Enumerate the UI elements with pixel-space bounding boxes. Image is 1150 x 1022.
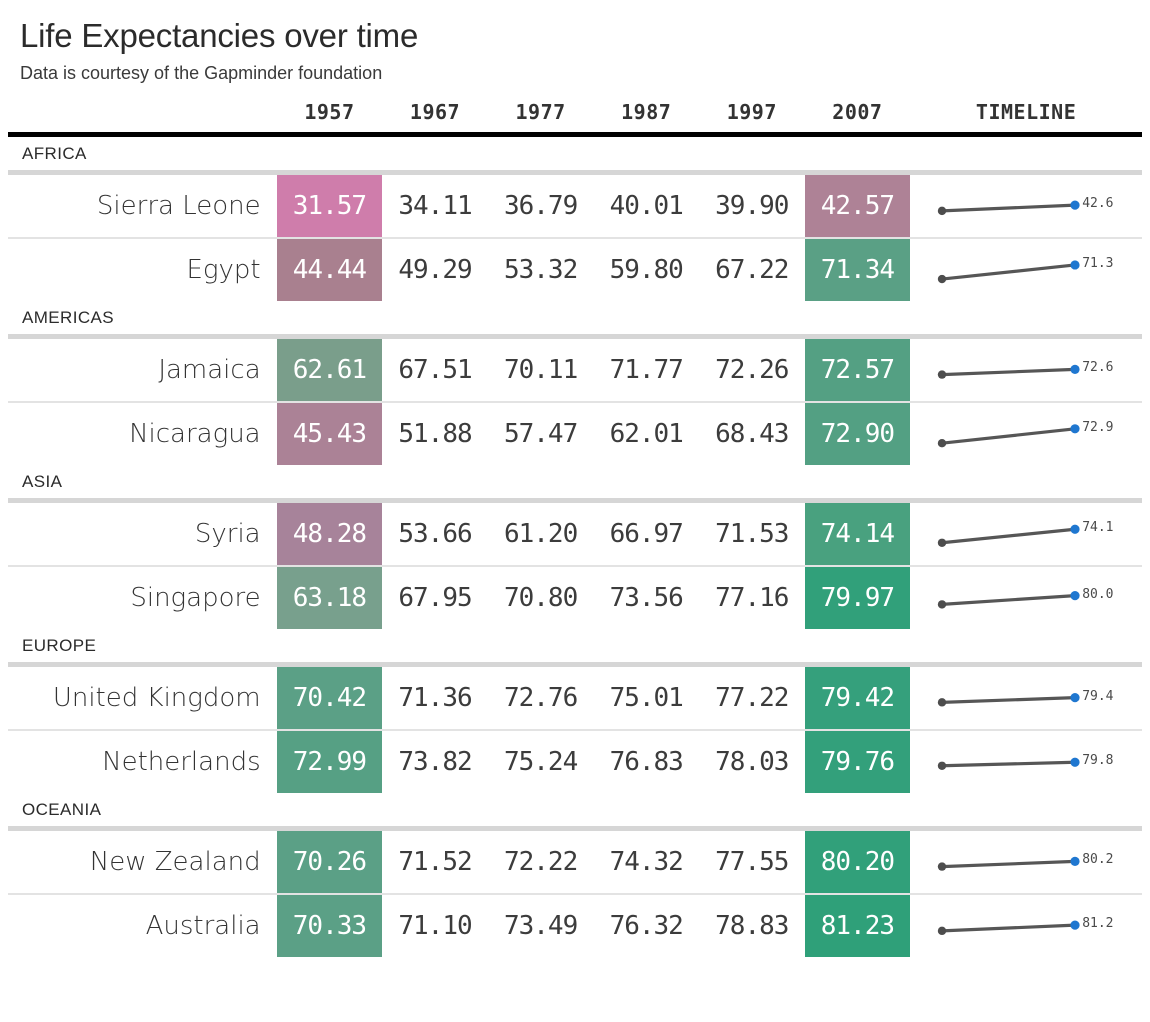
- sparkline-path: [942, 762, 1075, 766]
- sparkline-path: [942, 529, 1075, 543]
- group-label: EUROPE: [8, 629, 1142, 662]
- value-cell-2007: 79.42: [805, 667, 911, 730]
- group-header-row: OCEANIA: [8, 793, 1142, 826]
- group-header-row: AMERICAS: [8, 301, 1142, 334]
- sparkline: 72.6: [920, 340, 1136, 400]
- sparkline-end-dot: [1071, 693, 1080, 702]
- value-cell-1977: 36.79: [488, 175, 594, 238]
- value-cell-1967: 73.82: [382, 730, 488, 793]
- group-header-row: EUROPE: [8, 629, 1142, 662]
- timeline-cell: 81.2: [910, 894, 1142, 957]
- sparkline-path: [942, 698, 1075, 703]
- sparkline-path: [942, 861, 1075, 866]
- table-row[interactable]: Netherlands72.9973.8275.2476.8378.0379.7…: [8, 730, 1142, 793]
- timeline-cell: 80.0: [910, 566, 1142, 629]
- sparkline-end-dot: [1071, 424, 1080, 433]
- value-cell-1967: 34.11: [382, 175, 488, 238]
- sparkline-end-label: 81.2: [1082, 916, 1113, 931]
- value-cell-1987: 40.01: [593, 175, 699, 238]
- timeline-cell: 80.2: [910, 831, 1142, 894]
- group-label: AMERICAS: [8, 301, 1142, 334]
- value-cell-1987: 75.01: [593, 667, 699, 730]
- value-cell-1997: 67.22: [699, 238, 805, 301]
- value-cell-2007: 72.57: [805, 339, 911, 402]
- value-cell-1987: 76.83: [593, 730, 699, 793]
- sparkline: 42.6: [920, 176, 1136, 236]
- sparkline-end-label: 79.8: [1082, 753, 1113, 768]
- timeline-cell: 79.8: [910, 730, 1142, 793]
- sparkline-start-dot: [938, 439, 946, 447]
- page-title: Life Expectancies over time: [20, 16, 1130, 56]
- sparkline-path: [942, 369, 1075, 374]
- sparkline: 74.1: [920, 504, 1136, 564]
- sparkline-end-label: 74.1: [1082, 520, 1113, 535]
- sparkline: 79.8: [920, 732, 1136, 792]
- sparkline-start-dot: [938, 275, 946, 283]
- sparkline-path: [942, 205, 1075, 211]
- sparkline-start-dot: [938, 762, 946, 770]
- sparkline-end-dot: [1071, 591, 1080, 600]
- country-name: Syria: [8, 503, 277, 566]
- sparkline-end-dot: [1071, 525, 1080, 534]
- value-cell-1967: 71.36: [382, 667, 488, 730]
- value-cell-1977: 70.11: [488, 339, 594, 402]
- sparkline-end-dot: [1071, 260, 1080, 269]
- sparkline: 71.3: [920, 240, 1136, 300]
- table-row[interactable]: Jamaica62.6167.5170.1171.7772.2672.5772.…: [8, 339, 1142, 402]
- sparkline: 80.2: [920, 832, 1136, 892]
- country-name: Australia: [8, 894, 277, 957]
- sparkline-start-dot: [938, 370, 946, 378]
- value-cell-1957: 63.18: [277, 566, 383, 629]
- timeline-cell: 72.6: [910, 339, 1142, 402]
- value-cell-2007: 79.76: [805, 730, 911, 793]
- sparkline-end-dot: [1071, 365, 1080, 374]
- sparkline-start-dot: [938, 927, 946, 935]
- title-block: Life Expectancies over time Data is cour…: [8, 0, 1142, 86]
- sparkline-end-label: 80.0: [1082, 587, 1113, 602]
- table-row[interactable]: United Kingdom70.4271.3672.7675.0177.227…: [8, 667, 1142, 730]
- country-name: Nicaragua: [8, 402, 277, 465]
- sparkline-path: [942, 925, 1075, 931]
- value-cell-1977: 53.32: [488, 238, 594, 301]
- group-label: AFRICA: [8, 137, 1142, 170]
- value-cell-1987: 71.77: [593, 339, 699, 402]
- sparkline-start-dot: [938, 207, 946, 215]
- value-cell-1987: 66.97: [593, 503, 699, 566]
- sparkline-end-label: 72.9: [1082, 420, 1113, 435]
- value-cell-1987: 73.56: [593, 566, 699, 629]
- table-row[interactable]: Sierra Leone31.5734.1136.7940.0139.9042.…: [8, 175, 1142, 238]
- sparkline-start-dot: [938, 698, 946, 706]
- sparkline-end-label: 79.4: [1082, 689, 1113, 704]
- country-name: Singapore: [8, 566, 277, 629]
- value-cell-1957: 70.33: [277, 894, 383, 957]
- sparkline: 81.2: [920, 896, 1136, 956]
- group-header-row: AFRICA: [8, 137, 1142, 170]
- column-header-1967[interactable]: 1967: [382, 100, 488, 132]
- page-subtitle: Data is courtesy of the Gapminder founda…: [20, 60, 1130, 86]
- value-cell-1957: 62.61: [277, 339, 383, 402]
- timeline-cell: 71.3: [910, 238, 1142, 301]
- timeline-cell: 42.6: [910, 175, 1142, 238]
- table-row[interactable]: Singapore63.1867.9570.8073.5677.1679.978…: [8, 566, 1142, 629]
- country-name: Sierra Leone: [8, 175, 277, 238]
- value-cell-1957: 48.28: [277, 503, 383, 566]
- sparkline-path: [942, 265, 1075, 279]
- value-cell-1967: 71.10: [382, 894, 488, 957]
- value-cell-1987: 76.32: [593, 894, 699, 957]
- table-row[interactable]: Australia70.3371.1073.4976.3278.8381.238…: [8, 894, 1142, 957]
- value-cell-1987: 62.01: [593, 402, 699, 465]
- sparkline-end-label: 72.6: [1082, 360, 1113, 375]
- table-body: AFRICASierra Leone31.5734.1136.7940.0139…: [8, 137, 1142, 957]
- value-cell-1977: 57.47: [488, 402, 594, 465]
- value-cell-2007: 81.23: [805, 894, 911, 957]
- value-cell-1997: 78.03: [699, 730, 805, 793]
- value-cell-1997: 68.43: [699, 402, 805, 465]
- column-header-1977[interactable]: 1977: [488, 100, 594, 132]
- value-cell-2007: 80.20: [805, 831, 911, 894]
- value-cell-1977: 72.76: [488, 667, 594, 730]
- country-name: New Zealand: [8, 831, 277, 894]
- value-cell-1977: 73.49: [488, 894, 594, 957]
- value-cell-1967: 67.51: [382, 339, 488, 402]
- sparkline: 72.9: [920, 404, 1136, 464]
- sparkline: 79.4: [920, 668, 1136, 728]
- country-name: Egypt: [8, 238, 277, 301]
- life-expectancy-table: 1957 1967 1977 1987 1997 2007 TIMELINE A…: [8, 100, 1142, 957]
- sparkline-end-dot: [1071, 857, 1080, 866]
- group-label: ASIA: [8, 465, 1142, 498]
- value-cell-1957: 70.26: [277, 831, 383, 894]
- value-cell-2007: 42.57: [805, 175, 911, 238]
- timeline-cell: 72.9: [910, 402, 1142, 465]
- value-cell-1997: 72.26: [699, 339, 805, 402]
- timeline-cell: 74.1: [910, 503, 1142, 566]
- value-cell-2007: 71.34: [805, 238, 911, 301]
- value-cell-1997: 71.53: [699, 503, 805, 566]
- value-cell-1987: 59.80: [593, 238, 699, 301]
- sparkline-end-dot: [1071, 758, 1080, 767]
- sparkline-path: [942, 429, 1075, 443]
- value-cell-1957: 45.43: [277, 402, 383, 465]
- value-cell-1967: 53.66: [382, 503, 488, 566]
- header-row: 1957 1967 1977 1987 1997 2007 TIMELINE: [8, 100, 1142, 132]
- life-expectancy-dashboard: Life Expectancies over time Data is cour…: [0, 0, 1150, 1022]
- table-header: 1957 1967 1977 1987 1997 2007 TIMELINE: [8, 100, 1142, 137]
- column-header-timeline[interactable]: TIMELINE: [910, 100, 1142, 132]
- value-cell-1977: 61.20: [488, 503, 594, 566]
- sparkline-end-label: 80.2: [1082, 852, 1113, 867]
- value-cell-1997: 77.55: [699, 831, 805, 894]
- value-cell-1997: 78.83: [699, 894, 805, 957]
- column-header-country[interactable]: [8, 100, 277, 132]
- sparkline-end-dot: [1071, 201, 1080, 210]
- column-header-2007[interactable]: 2007: [805, 100, 911, 132]
- table-row[interactable]: Syria48.2853.6661.2066.9771.5374.1474.1: [8, 503, 1142, 566]
- column-header-1957[interactable]: 1957: [277, 100, 383, 132]
- table-row[interactable]: Egypt44.4449.2953.3259.8067.2271.3471.3: [8, 238, 1142, 301]
- value-cell-2007: 72.90: [805, 402, 911, 465]
- sparkline-end-label: 42.6: [1082, 196, 1113, 211]
- value-cell-1967: 49.29: [382, 238, 488, 301]
- value-cell-1977: 75.24: [488, 730, 594, 793]
- table-row[interactable]: Nicaragua45.4351.8857.4762.0168.4372.907…: [8, 402, 1142, 465]
- column-header-1987[interactable]: 1987: [593, 100, 699, 132]
- sparkline-start-dot: [938, 539, 946, 547]
- sparkline-end-label: 71.3: [1082, 256, 1113, 271]
- sparkline: 80.0: [920, 568, 1136, 628]
- value-cell-2007: 74.14: [805, 503, 911, 566]
- value-cell-1967: 67.95: [382, 566, 488, 629]
- value-cell-1977: 70.80: [488, 566, 594, 629]
- value-cell-1977: 72.22: [488, 831, 594, 894]
- value-cell-1967: 51.88: [382, 402, 488, 465]
- country-name: Jamaica: [8, 339, 277, 402]
- value-cell-1957: 72.99: [277, 730, 383, 793]
- group-header-row: ASIA: [8, 465, 1142, 498]
- value-cell-1957: 70.42: [277, 667, 383, 730]
- sparkline-start-dot: [938, 600, 946, 608]
- timeline-cell: 79.4: [910, 667, 1142, 730]
- country-name: United Kingdom: [8, 667, 277, 730]
- value-cell-1967: 71.52: [382, 831, 488, 894]
- value-cell-1957: 31.57: [277, 175, 383, 238]
- group-label: OCEANIA: [8, 793, 1142, 826]
- value-cell-1997: 77.16: [699, 566, 805, 629]
- value-cell-1987: 74.32: [593, 831, 699, 894]
- sparkline-start-dot: [938, 862, 946, 870]
- column-header-1997[interactable]: 1997: [699, 100, 805, 132]
- sparkline-end-dot: [1071, 921, 1080, 930]
- value-cell-1997: 77.22: [699, 667, 805, 730]
- table-row[interactable]: New Zealand70.2671.5272.2274.3277.5580.2…: [8, 831, 1142, 894]
- value-cell-1997: 39.90: [699, 175, 805, 238]
- value-cell-1957: 44.44: [277, 238, 383, 301]
- value-cell-2007: 79.97: [805, 566, 911, 629]
- sparkline-path: [942, 596, 1075, 605]
- country-name: Netherlands: [8, 730, 277, 793]
